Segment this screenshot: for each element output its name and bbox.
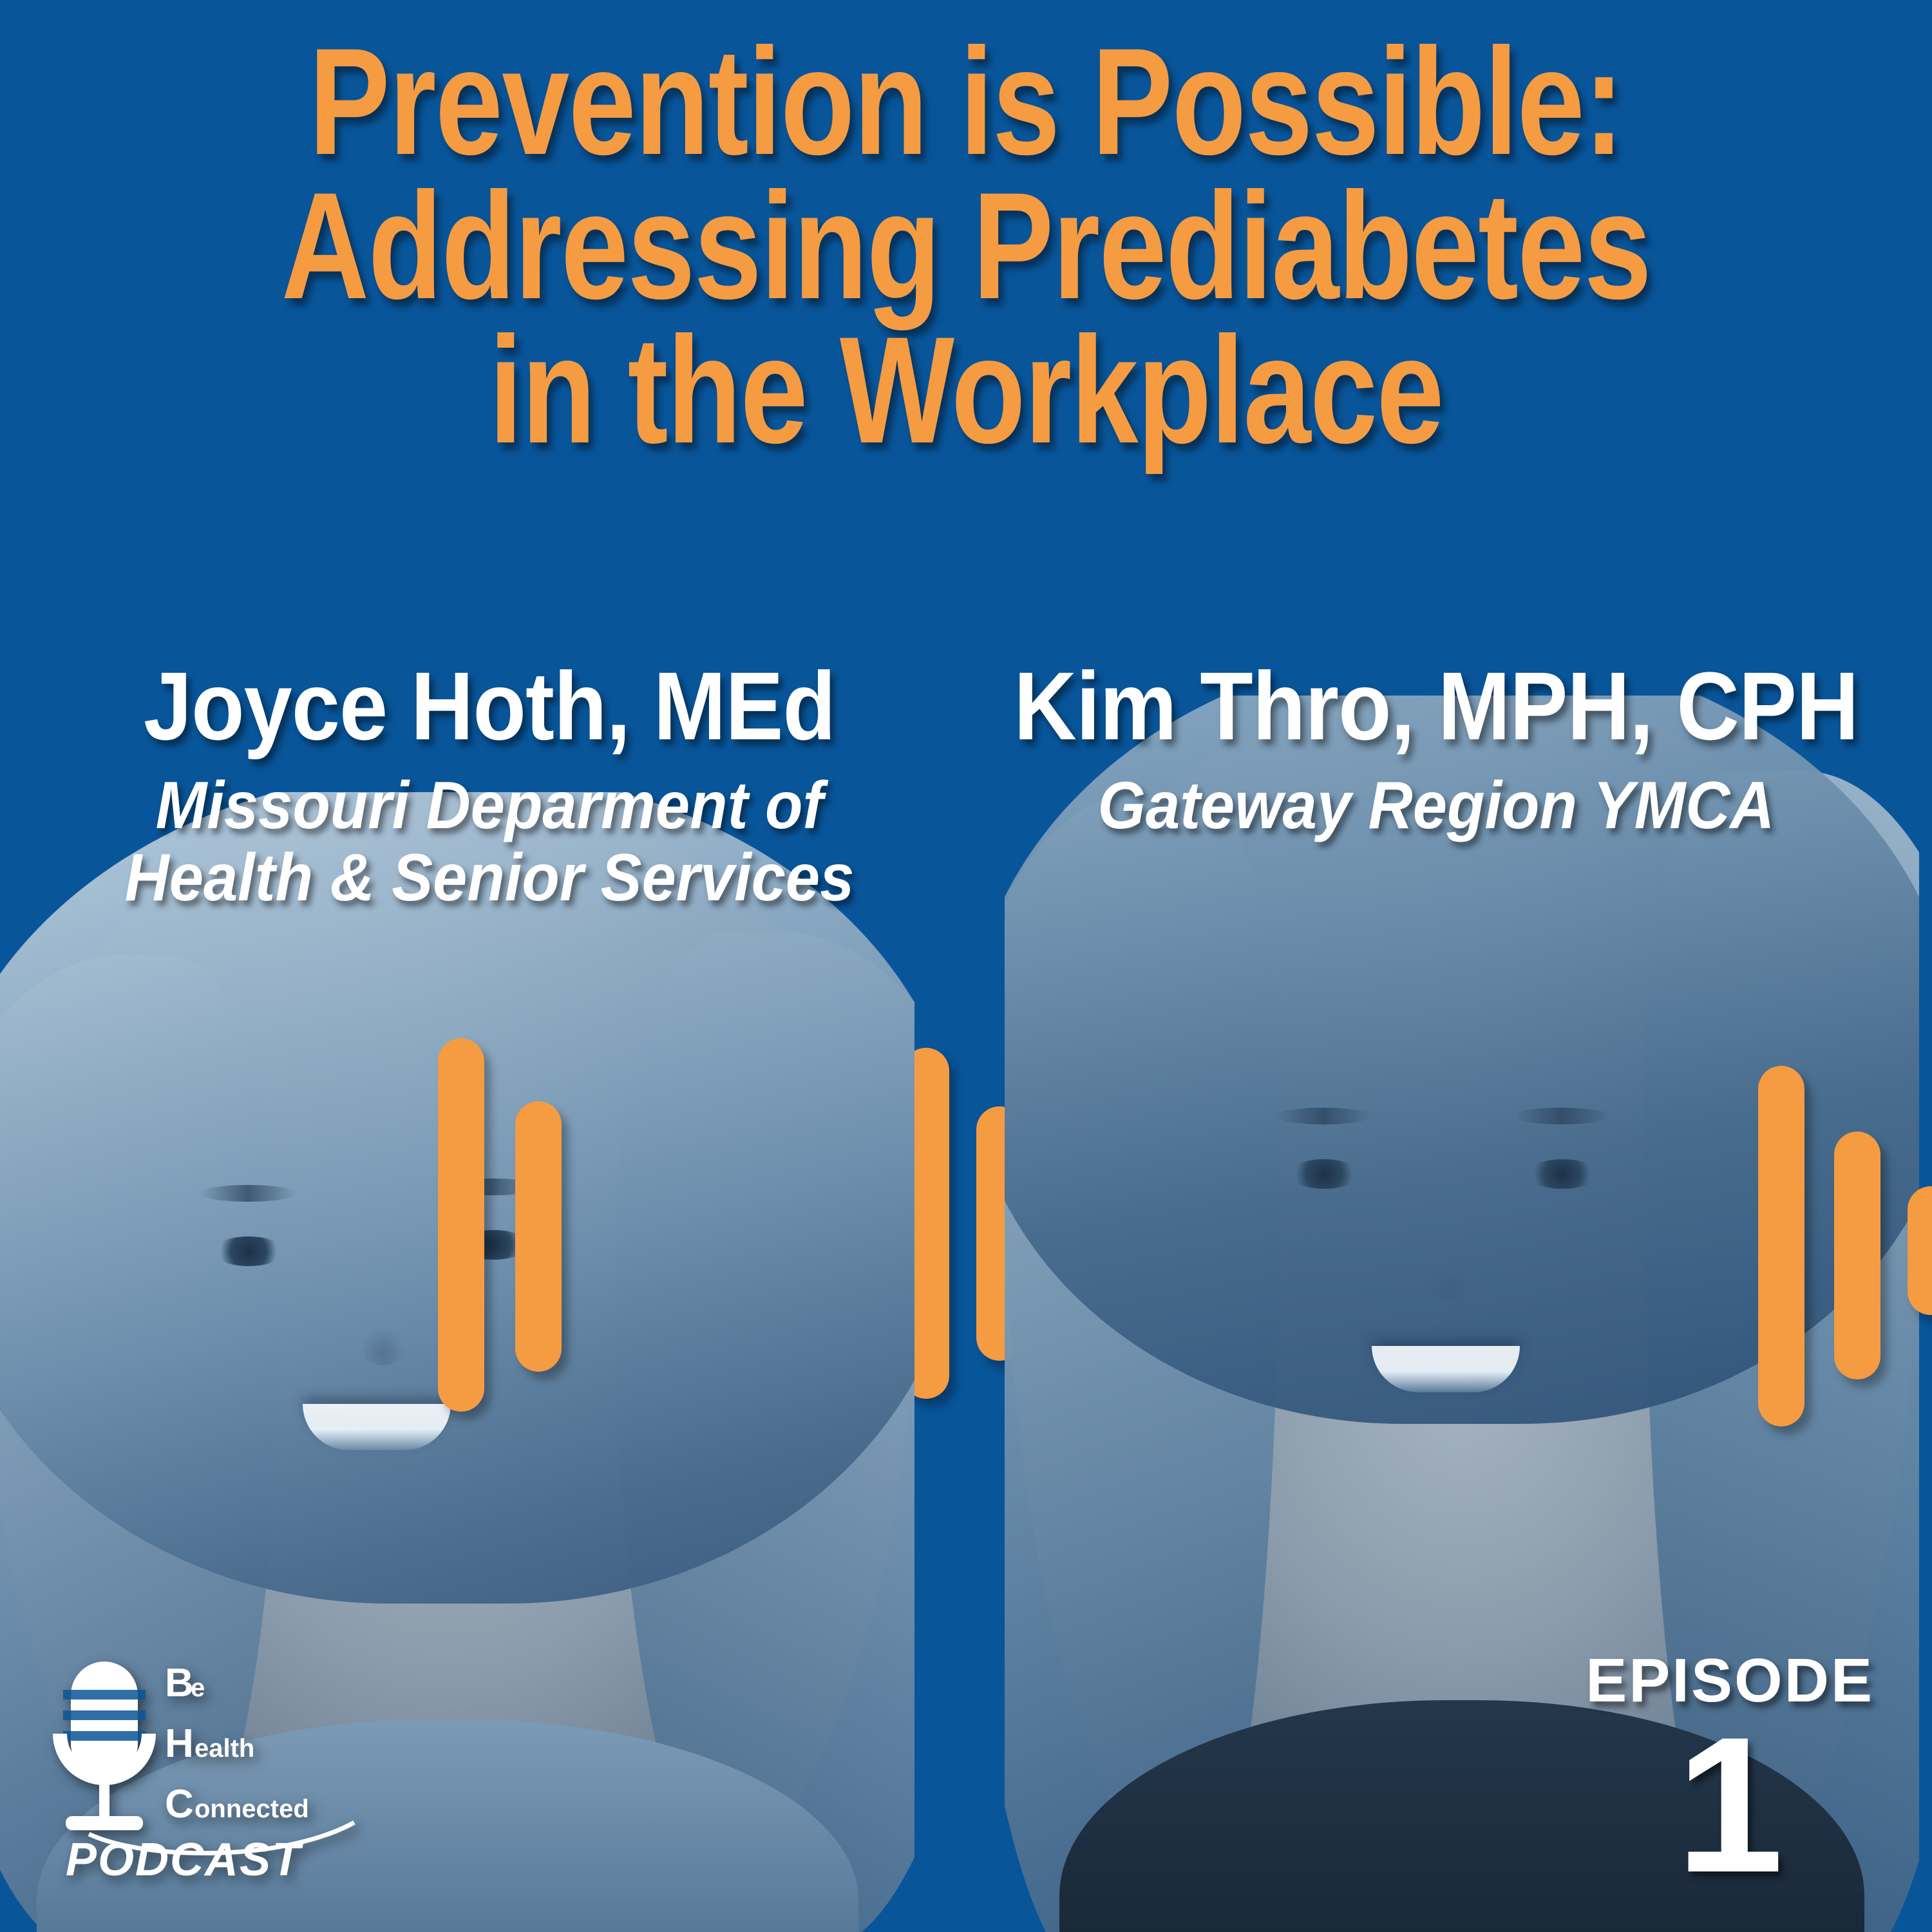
podcast-cover-art: Prevention is Possible: Addressing Predi… <box>0 0 1932 1932</box>
title-line-3: in the Workplace <box>214 318 1718 462</box>
title-line-1: Prevention is Possible: <box>214 30 1718 174</box>
speaker-org-line-1: Gateway Region YMCA <box>998 770 1875 842</box>
episode-badge: EPISODE 1 <box>1586 1650 1874 1893</box>
logo-letter-c: C <box>165 1782 194 1826</box>
waveform-bar <box>1908 1186 1932 1315</box>
speaker-organization: Missouri Deparment of Health & Senior Se… <box>69 770 910 914</box>
microphone-icon <box>53 1662 156 1830</box>
title-line-2: Addressing Prediabetes <box>214 174 1718 318</box>
page-title: Prevention is Possible: Addressing Predi… <box>0 30 1932 463</box>
speaker-credits: Joyce Hoth, MEd Missouri Deparment of He… <box>0 657 1932 914</box>
logo-letter-h: H <box>165 1721 194 1766</box>
logo-word-connected-rest: onnected <box>194 1795 309 1823</box>
speaker-kim-thro: Kim Thro, MPH, CPH Gateway Region YMCA <box>960 657 1913 914</box>
episode-number: 1 <box>1586 1716 1874 1893</box>
be-health-connected-logo: B e H ealth C onnected PODCAST <box>52 1656 412 1882</box>
waveform-bar <box>515 1101 562 1372</box>
speaker-name: Joyce Hoth, MEd <box>78 657 901 755</box>
logo-wordmark: B e H ealth C onnected <box>165 1661 309 1826</box>
speaker-name: Kim Thro, MPH, CPH <box>1007 657 1865 755</box>
waveform-bar <box>1758 1066 1804 1426</box>
speaker-joyce-hoth: Joyce Hoth, MEd Missouri Deparment of He… <box>32 657 947 914</box>
speaker-org-line-2: Health & Senior Services <box>69 842 910 914</box>
waveform-bar <box>438 1038 484 1412</box>
speaker-org-line-1: Missouri Deparment of <box>69 770 910 842</box>
logo-letter-b: B <box>165 1661 194 1705</box>
logo-word-health-rest: ealth <box>194 1734 254 1763</box>
waveform-bar <box>1834 1132 1880 1379</box>
logo-word-be-rest: e <box>191 1674 205 1702</box>
logo-podcast-word: PODCAST <box>66 1834 304 1882</box>
speaker-organization: Gateway Region YMCA <box>998 770 1875 842</box>
